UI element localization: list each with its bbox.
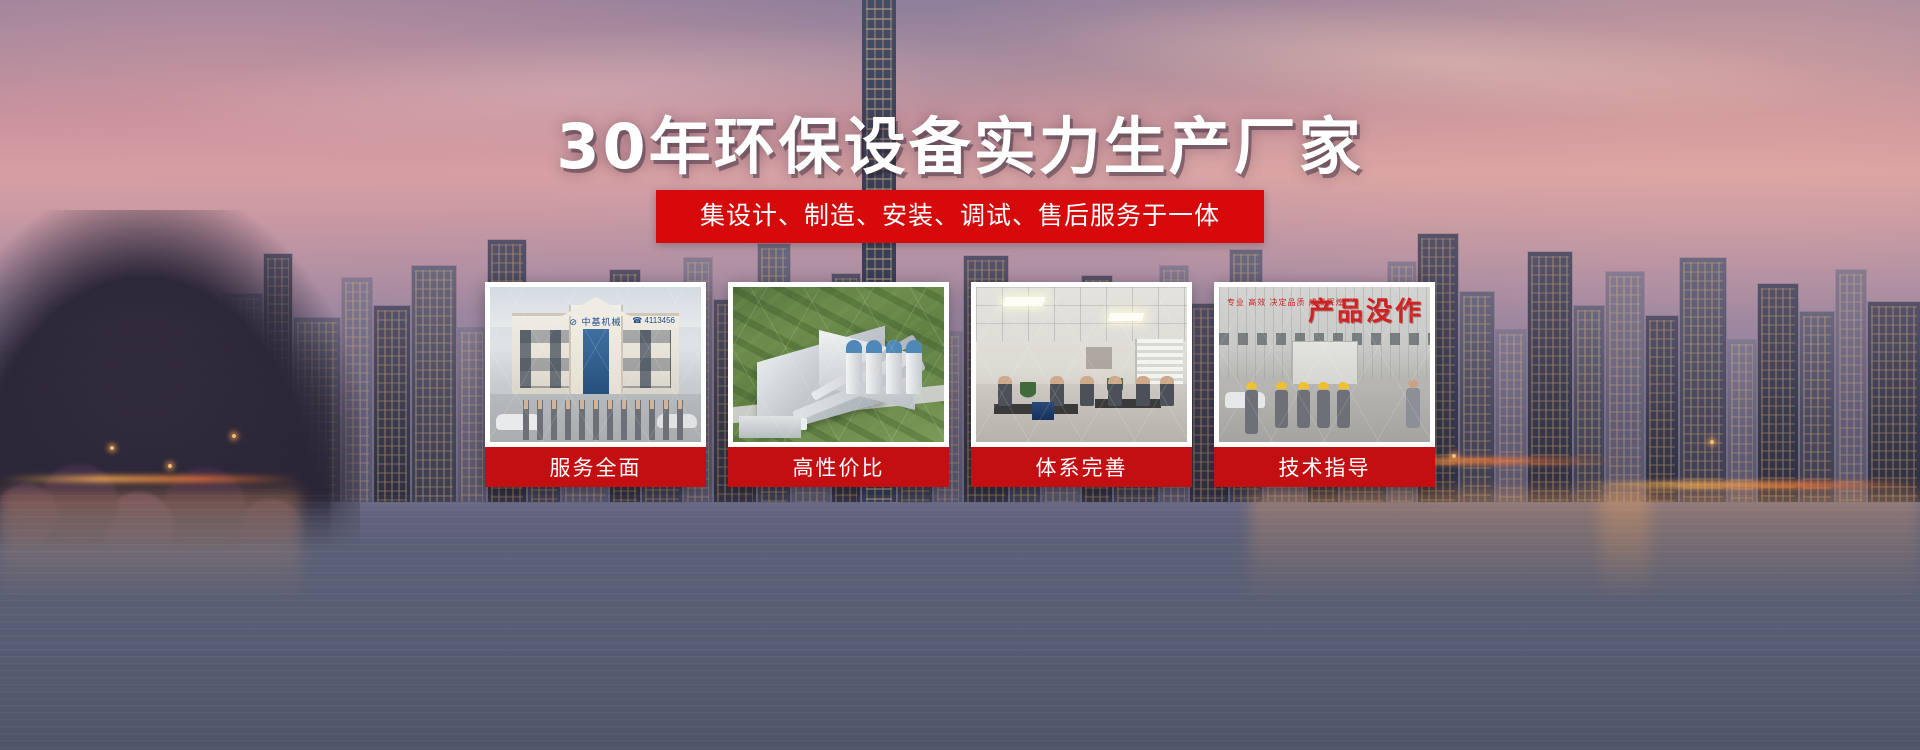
building-phone-text: ☎ 4113456: [632, 316, 675, 325]
factory-wall-slogan-small: 专业 高效 决定品质 成就辉煌: [1227, 297, 1345, 309]
page-title: 30年环保设备实力生产厂家: [0, 96, 1920, 186]
feature-card-system[interactable]: 体系完善: [971, 282, 1192, 487]
card-photo-factory-workers: 产品没作 专业 高效 决定品质 成就辉煌: [1219, 287, 1430, 442]
card-photo-industrial-plant: [733, 287, 944, 442]
feature-card-value[interactable]: 高性价比: [728, 282, 949, 487]
card-label-service: 服务全面: [485, 447, 706, 487]
feature-card-service[interactable]: ⊘ 中基机械 ☎ 4113456 服务全面: [485, 282, 706, 487]
card-label-system: 体系完善: [971, 447, 1192, 487]
feature-card-row: ⊘ 中基机械 ☎ 4113456 服务全面: [485, 282, 1435, 487]
card-label-value: 高性价比: [728, 447, 949, 487]
card-label-guidance: 技术指导: [1214, 447, 1435, 487]
feature-card-guidance[interactable]: 产品没作 专业 高效 决定品质 成就辉煌 技术指导: [1214, 282, 1435, 487]
card-photo-office-building: ⊘ 中基机械 ☎ 4113456: [490, 287, 701, 442]
card-photo-office-meeting: [976, 287, 1187, 442]
subtitle-badge: 集设计、制造、安装、调试、售后服务于一体: [656, 190, 1264, 243]
building-logo-text: ⊘ 中基机械: [569, 315, 621, 328]
hero-banner: 30年环保设备实力生产厂家 集设计、制造、安装、调试、售后服务于一体 ⊘ 中基机…: [0, 0, 1920, 750]
shoreline-lights-far-right: [1580, 482, 1920, 488]
shoreline-lights-left: [0, 476, 300, 482]
